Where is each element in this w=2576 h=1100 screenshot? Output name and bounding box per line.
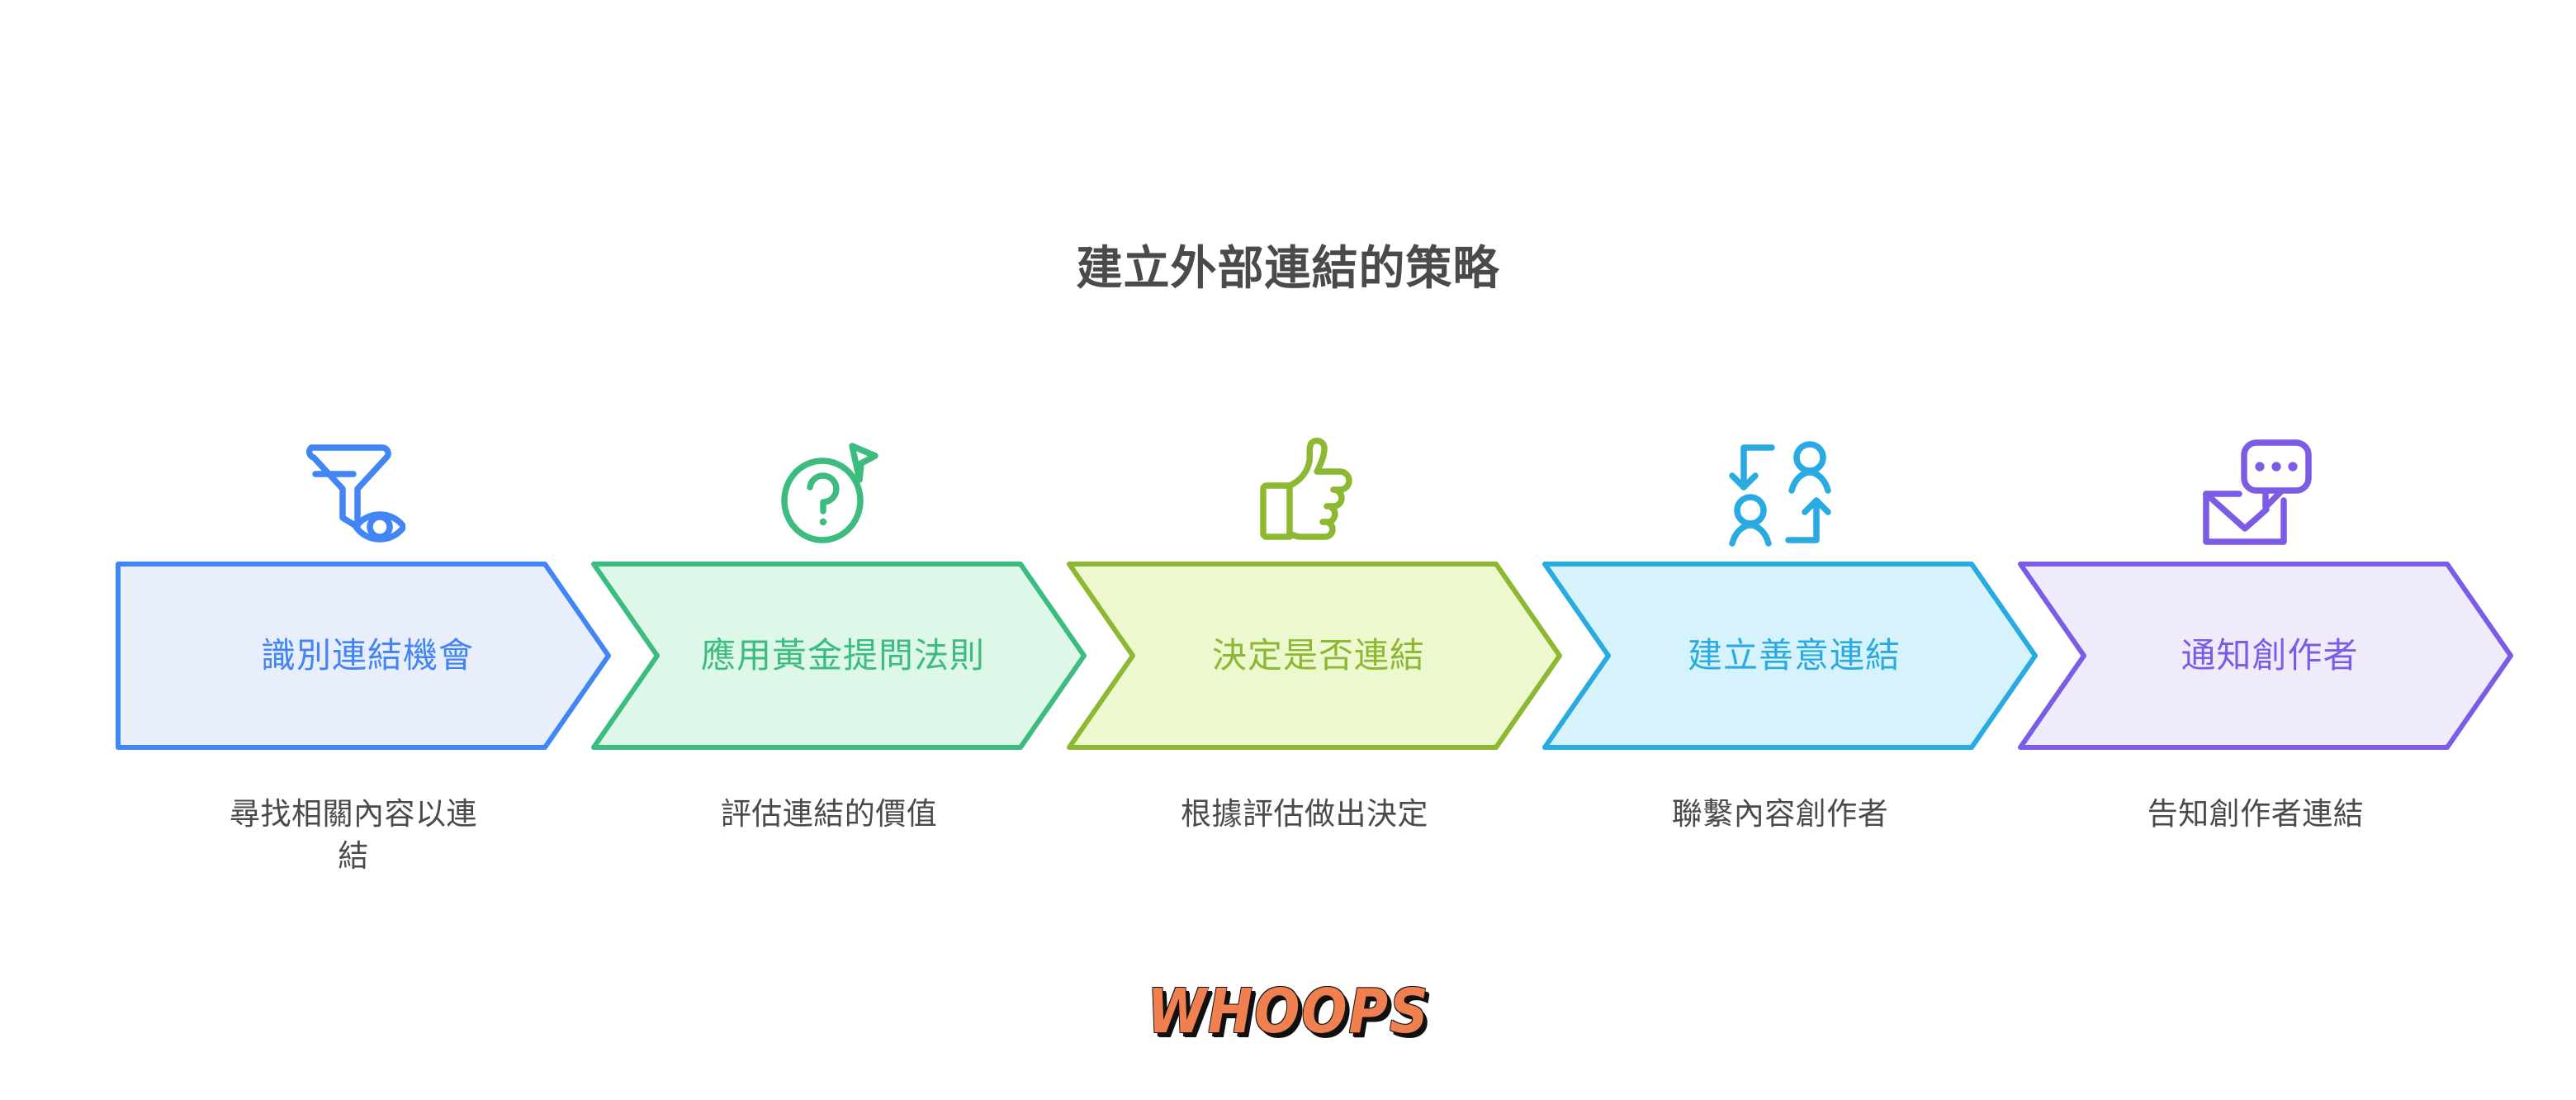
caption-text-5: 告知創作者連結 — [2147, 793, 2365, 835]
chevron-step-4[interactable]: 建立善意連結 — [1542, 562, 2038, 750]
icon-cell-3 — [1067, 393, 1542, 550]
icon-cell-1 — [116, 393, 591, 550]
people-exchange-icon — [1721, 438, 1840, 550]
caption-text-1: 尋找相關內容以連結 — [230, 793, 477, 877]
caption-text-3: 根據評估做出決定 — [1181, 793, 1428, 835]
icon-cell-2 — [591, 393, 1067, 550]
caption-cell-5: 告知創作者連結 — [2018, 793, 2493, 835]
icon-cell-4 — [1542, 393, 2018, 550]
caption-cell-1: 尋找相關內容以連結 — [116, 793, 591, 877]
chevron-step-2[interactable]: 應用黃金提問法則 — [591, 562, 1087, 750]
question-cursor-icon — [774, 436, 883, 550]
page-title: 建立外部連結的策略 — [0, 241, 2576, 296]
chevron-label-3: 決定是否連結 — [1067, 562, 1562, 750]
icon-row — [116, 393, 2493, 550]
icon-cell-5 — [2018, 393, 2493, 550]
chevron-label-4: 建立善意連結 — [1542, 562, 2038, 750]
watermark: WHOOPS — [0, 976, 2576, 1047]
caption-text-4: 聯繫內容創作者 — [1672, 793, 1889, 835]
chevron-step-3[interactable]: 決定是否連結 — [1067, 562, 1562, 750]
envelope-chat-icon — [2198, 434, 2313, 550]
caption-text-2: 評估連結的價值 — [721, 793, 938, 835]
chevron-row: 識別連結機會 應用黃金提問法則 決定是否連結 建立善意連結 通知創作者 — [116, 562, 2493, 750]
thumbs-up-icon — [1253, 434, 1356, 550]
chevron-step-1[interactable]: 識別連結機會 — [116, 562, 611, 750]
chevron-label-2: 應用黃金提問法則 — [591, 562, 1087, 750]
funnel-eye-icon — [301, 434, 405, 550]
chevron-label-5: 通知創作者 — [2018, 562, 2513, 750]
caption-cell-4: 聯繫內容創作者 — [1542, 793, 2018, 835]
chevron-label-1: 識別連結機會 — [116, 562, 611, 750]
watermark-text: WHOOPS — [1147, 976, 1429, 1047]
caption-row: 尋找相關內容以連結 評估連結的價值 根據評估做出決定 聯繫內容創作者 告知創作者… — [116, 793, 2493, 877]
caption-cell-3: 根據評估做出決定 — [1067, 793, 1542, 835]
infographic-canvas: 建立外部連結的策略 — [0, 0, 2576, 1100]
chevron-step-5[interactable]: 通知創作者 — [2018, 562, 2513, 750]
caption-cell-2: 評估連結的價值 — [591, 793, 1067, 835]
